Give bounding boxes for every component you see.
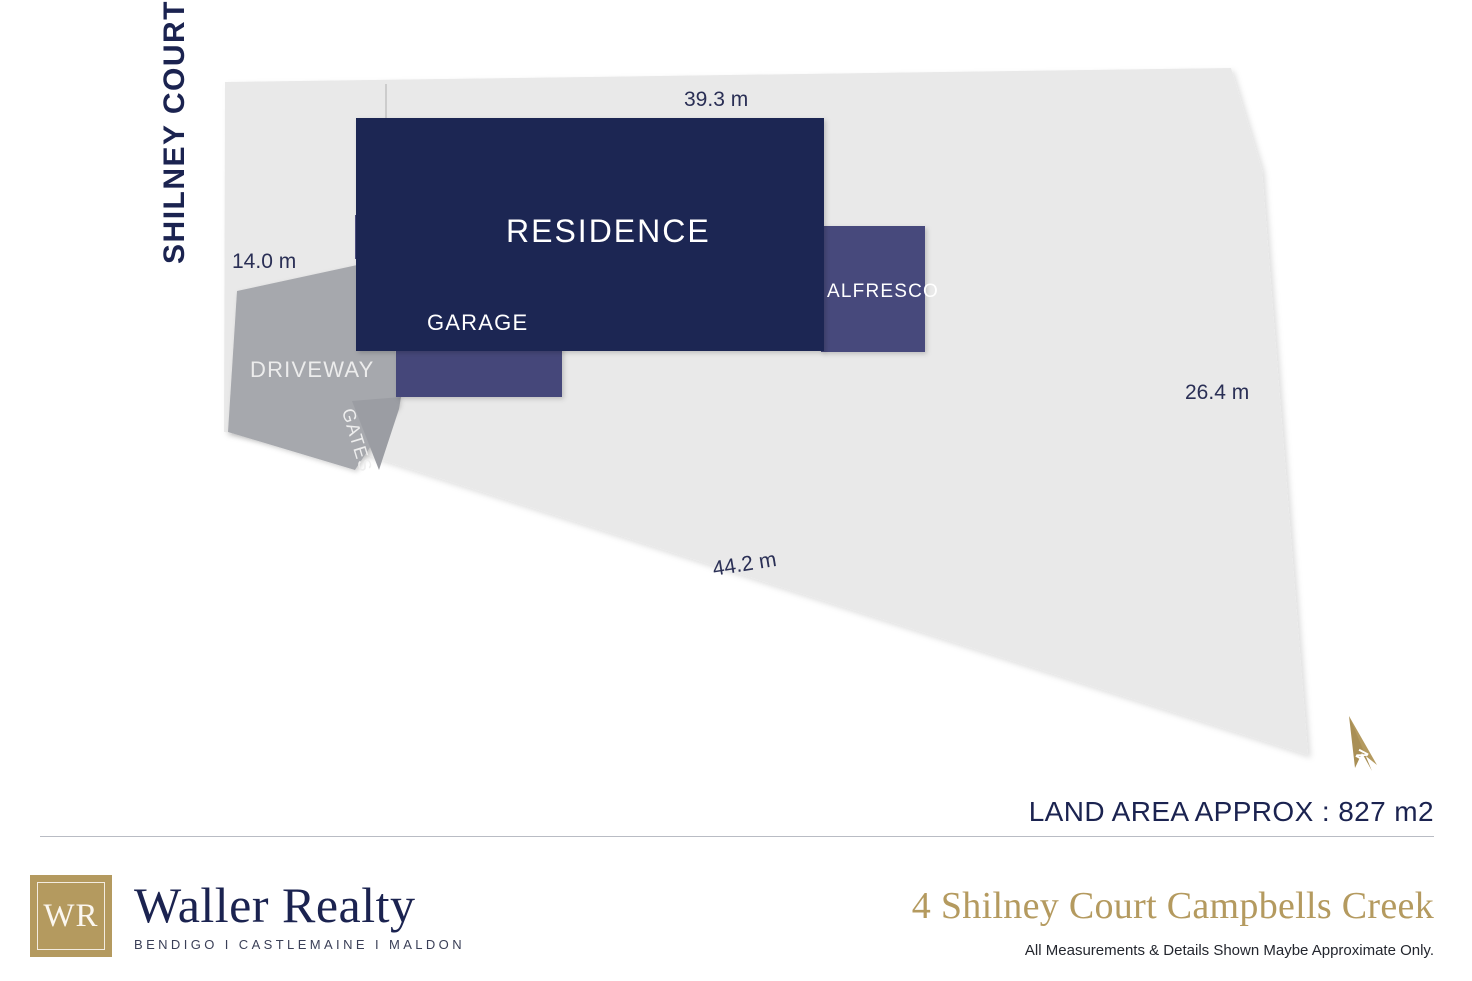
footer: WR Waller Realty BENDIGO I CASTLEMAINE I…: [0, 850, 1472, 981]
dimension-right: 26.4 m: [1185, 381, 1249, 405]
site-plan-drawing: N: [0, 0, 1472, 830]
logo-initials: WR: [43, 898, 98, 935]
land-area-row: LAND AREA APPROX : 827 m2: [40, 796, 1434, 828]
site-plan-page: N SHILNEY COURT 39.3 m 14.0 m 26.4 m 44.…: [0, 0, 1472, 981]
driveway-label: DRIVEWAY: [250, 357, 375, 383]
brand-words: Waller Realty BENDIGO I CASTLEMAINE I MA…: [134, 880, 465, 952]
north-arrow-icon: N: [1349, 716, 1377, 771]
brand-block: WR Waller Realty BENDIGO I CASTLEMAINE I…: [30, 875, 465, 957]
dimension-top: 39.3 m: [684, 88, 748, 112]
dimension-left: 14.0 m: [232, 250, 296, 274]
property-address: 4 Shilney Court Campbells Creek: [912, 886, 1434, 928]
disclaimer-text: All Measurements & Details Shown Maybe A…: [912, 942, 1434, 959]
brand-locations: BENDIGO I CASTLEMAINE I MALDON: [134, 937, 465, 952]
brand-name: Waller Realty: [134, 880, 465, 930]
street-name-label: SHILNEY COURT: [158, 0, 192, 312]
alfresco-label: ALFRESCO: [827, 281, 939, 303]
residence-label: RESIDENCE: [506, 213, 711, 250]
waller-realty-logo-icon: WR: [30, 875, 112, 957]
footer-divider: [40, 836, 1434, 837]
garage-label: GARAGE: [427, 310, 528, 336]
footer-right: 4 Shilney Court Campbells Creek All Meas…: [912, 886, 1434, 959]
land-area-text: LAND AREA APPROX : 827 m2: [1029, 796, 1434, 828]
